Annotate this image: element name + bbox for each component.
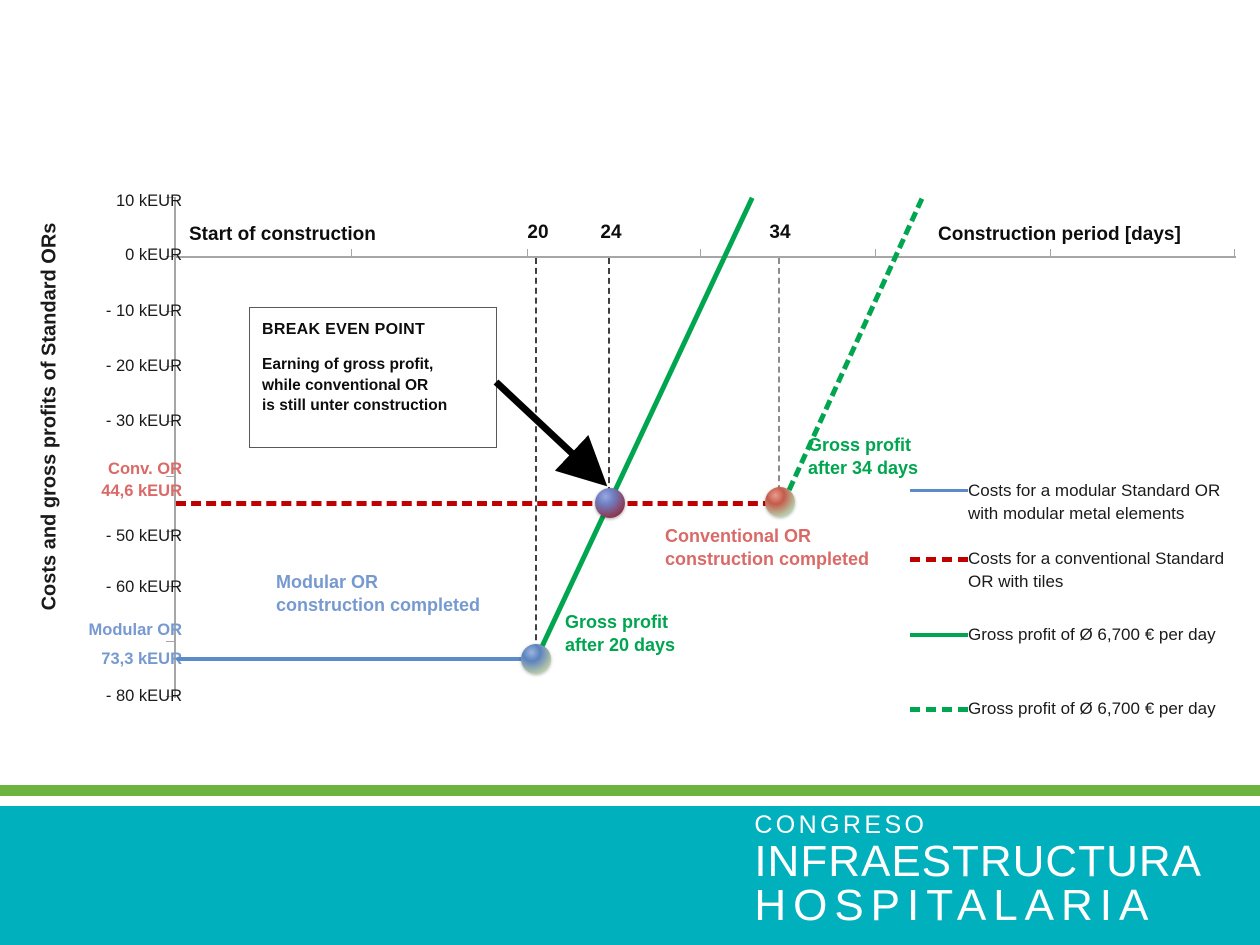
y-tick-label--50: - 50 kEUR xyxy=(22,527,182,546)
y-tick-label--30: - 30 kEUR xyxy=(22,412,182,431)
annotation-gross-profit-34-days: Gross profit after 34 days xyxy=(808,434,918,481)
x-tick-a xyxy=(351,249,352,258)
legend-swatch-green-solid-icon xyxy=(910,633,968,637)
y-tick-label-modular-or: Modular OR xyxy=(22,621,182,640)
legend-item-gross-profit-solid[interactable]: Gross profit of Ø 6,700 € per day xyxy=(910,624,1250,652)
y-tick-label-conv-value: 44,6 kEUR xyxy=(22,482,182,501)
annotation-conventional-line-2: construction completed xyxy=(665,548,869,571)
legend-item-modular-costs[interactable]: Costs for a modular Standard OR with mod… xyxy=(910,480,1250,526)
annotation-profit20-line-1: Gross profit xyxy=(565,611,675,634)
y-tick-label-conv-or: Conv. OR xyxy=(22,460,182,479)
callout-line-1: Earning of gross profit, xyxy=(262,355,496,376)
annotation-profit34-line-2: after 34 days xyxy=(808,457,918,480)
legend-label-conventional-line-1: Costs for a conventional Standard xyxy=(968,548,1250,571)
y-tick-label--20: - 20 kEUR xyxy=(22,357,182,376)
legend-swatch-blue-solid-icon xyxy=(910,489,968,492)
annotation-conventional-line-1: Conventional OR xyxy=(665,525,869,548)
logo-line-hospitalaria: HOSPITALARIA xyxy=(754,884,1202,929)
start-of-construction-label: Start of construction xyxy=(189,224,376,246)
congress-logo: CONGRESO INFRAESTRUCTURA HOSPITALARIA xyxy=(754,812,1202,929)
y-tick-label--80: - 80 kEUR xyxy=(22,687,182,706)
x-tick-label-34: 34 xyxy=(763,222,797,244)
x-tick-c xyxy=(875,249,876,258)
logo-line-infraestructura: INFRAESTRUCTURA xyxy=(754,840,1202,885)
x-tick-b xyxy=(700,249,701,258)
x-tick-d xyxy=(1050,249,1051,258)
y-tick-label-0: 0 kEUR xyxy=(22,246,182,265)
legend-label-conventional-line-2: OR with tiles xyxy=(968,571,1250,594)
x-tick-e xyxy=(1234,249,1235,258)
y-tick-label--60: - 60 kEUR xyxy=(22,578,182,597)
marker-conventional-or-completed[interactable] xyxy=(765,487,795,517)
series-modular-or-costs xyxy=(176,657,539,661)
callout-line-2: while conventional OR xyxy=(262,376,496,397)
annotation-modular-or-completed: Modular OR construction completed xyxy=(276,571,480,618)
logo-line-congreso: CONGRESO xyxy=(754,812,1202,840)
y-tick--70 xyxy=(166,641,175,642)
series-conventional-or-costs xyxy=(176,501,788,506)
annotation-conventional-or-completed: Conventional OR construction completed xyxy=(665,525,869,572)
legend-swatch-green-dashed-icon xyxy=(910,707,968,712)
annotation-modular-line-1: Modular OR xyxy=(276,571,480,594)
x-tick-label-20: 20 xyxy=(521,222,555,244)
callout-title: BREAK EVEN POINT xyxy=(262,321,496,339)
legend-label-profit-dashed: Gross profit of Ø 6,700 € per day xyxy=(968,698,1250,721)
slide: Costs and gross profits of Standard ORs … xyxy=(0,0,1260,945)
annotation-profit34-line-1: Gross profit xyxy=(808,434,918,457)
callout-arrow-icon xyxy=(480,360,620,490)
x-axis-line xyxy=(174,256,1236,258)
marker-break-even-point[interactable] xyxy=(595,488,625,518)
x-axis-title: Construction period [days] xyxy=(938,224,1181,246)
x-tick-20 xyxy=(527,249,528,258)
break-even-callout: BREAK EVEN POINT Earning of gross profit… xyxy=(249,307,497,448)
callout-line-3: is still unter construction xyxy=(262,396,496,417)
legend-swatch-red-dashed-icon xyxy=(910,557,968,562)
y-tick-label-10: 10 kEUR xyxy=(22,192,182,211)
footer-green-band xyxy=(0,785,1260,796)
y-tick-label-modular-value: 73,3 kEUR xyxy=(22,650,182,669)
marker-modular-or-completed[interactable] xyxy=(521,644,551,674)
chart-legend: Costs for a modular Standard OR with mod… xyxy=(910,480,1250,748)
legend-label-modular-line-2: with modular metal elements xyxy=(968,503,1250,526)
legend-label-modular-line-1: Costs for a modular Standard OR xyxy=(968,480,1250,503)
y-tick-label--10: - 10 kEUR xyxy=(22,302,182,321)
chart-area: Costs and gross profits of Standard ORs … xyxy=(0,0,1260,775)
legend-item-conventional-costs[interactable]: Costs for a conventional Standard OR wit… xyxy=(910,548,1250,594)
x-tick-label-24: 24 xyxy=(594,222,628,244)
annotation-modular-line-2: construction completed xyxy=(276,594,480,617)
annotation-profit20-line-2: after 20 days xyxy=(565,634,675,657)
legend-label-profit-solid: Gross profit of Ø 6,700 € per day xyxy=(968,624,1250,647)
guide-day-34 xyxy=(778,258,780,501)
legend-item-gross-profit-dashed[interactable]: Gross profit of Ø 6,700 € per day xyxy=(910,698,1250,726)
annotation-gross-profit-20-days: Gross profit after 20 days xyxy=(565,611,675,658)
